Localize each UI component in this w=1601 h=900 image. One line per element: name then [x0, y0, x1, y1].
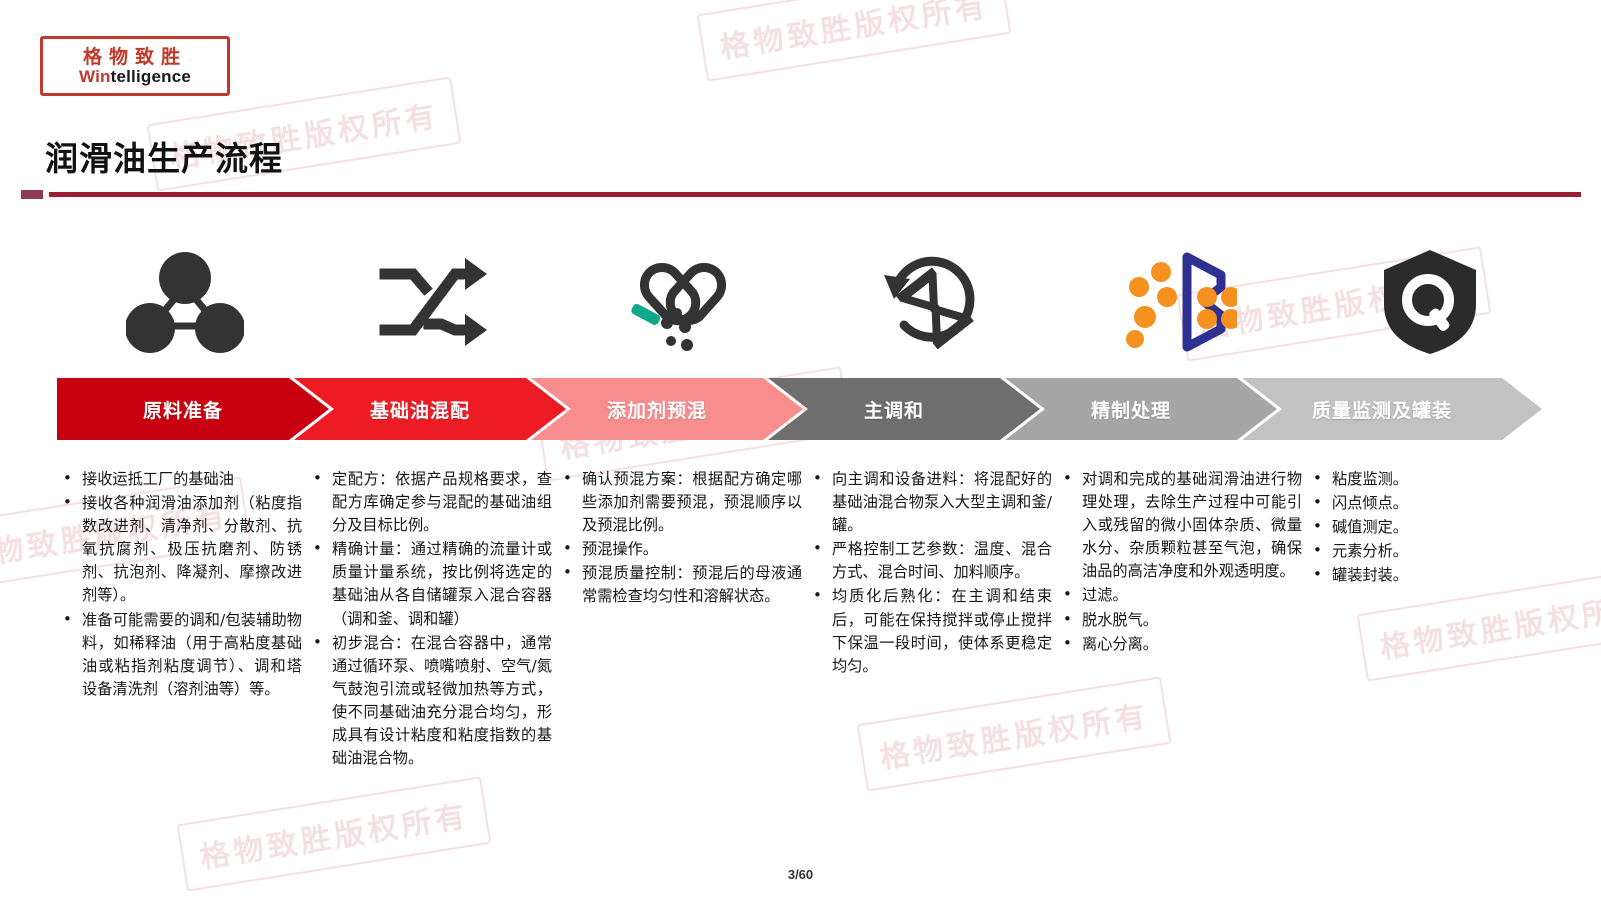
bullet-list-2: 确认预混方案：根据配方确定哪些添加剂需要预混，预混顺序以及预混比例。 预混操作。… — [560, 468, 802, 609]
chevron-label-3: 主调和 — [864, 396, 924, 423]
list-item: 精确计量：通过精确的流量计或质量计量系统，按比例将选定的基础油从各自储罐泵入混合… — [310, 538, 552, 630]
list-item: 预混操作。 — [560, 538, 802, 561]
list-item: 闪点倾点。 — [1310, 492, 1552, 515]
list-item: 确认预混方案：根据配方确定哪些添加剂需要预混，预混顺序以及预混比例。 — [560, 468, 802, 537]
icon-cell-main-blending — [808, 232, 1057, 372]
shield-quality-icon — [1378, 246, 1482, 358]
divider-square — [21, 190, 43, 199]
list-item: 粘度监测。 — [1310, 468, 1552, 491]
list-item: 初步混合：在混合容器中，通常通过循环泵、喷嘴喷射、空气/氮气鼓泡引流或轻微加热等… — [310, 632, 552, 771]
list-item: 定配方：依据产品规格要求，查配方库确定参与混配的基础油组分及目标比例。 — [310, 468, 552, 537]
watermark: 格物致胜版权所有 — [697, 0, 1012, 82]
chevron-label-2: 添加剂预混 — [607, 396, 707, 423]
filter-particles-icon — [1125, 247, 1237, 357]
divider-bar — [49, 192, 1581, 197]
list-item: 预混质量控制：预混后的母液通常需检查均匀性和溶解状态。 — [560, 562, 802, 608]
list-item: 离心分离。 — [1060, 633, 1302, 656]
list-item: 接收各种润滑油添加剂（粘度指数改进剂、清净剂、分散剂、抗氧抗腐剂、极压抗磨剂、防… — [60, 492, 302, 607]
title-divider — [21, 190, 1581, 199]
bullet-list-4: 对调和完成的基础润滑油进行物理处理，去除生产过程中可能引入或残留的微小固体杂质、… — [1060, 468, 1302, 656]
detail-column-main-blending: 向主调和设备进料：将混配好的基础油混合物泵入大型主调和釜/罐。 严格控制工艺参数… — [810, 468, 1060, 828]
chevron-refining-treatment[interactable]: 精制处理 — [1005, 378, 1277, 440]
list-item: 接收运抵工厂的基础油 — [60, 468, 302, 491]
chevron-label-1: 基础油混配 — [370, 396, 470, 423]
list-item: 碱值测定。 — [1310, 516, 1552, 539]
detail-column-refining-treatment: 对调和完成的基础润滑油进行物理处理，去除生产过程中可能引入或残留的微小固体杂质、… — [1060, 468, 1310, 828]
chevron-raw-material-preparation[interactable]: 原料准备 — [57, 378, 329, 440]
icon-cell-raw-material-preparation — [60, 232, 309, 372]
chevron-label-4: 精制处理 — [1091, 396, 1171, 423]
hourglass-refresh-icon — [876, 247, 988, 357]
stage-detail-columns: 接收运抵工厂的基础油 接收各种润滑油添加剂（粘度指数改进剂、清净剂、分散剂、抗氧… — [60, 468, 1560, 828]
list-item: 对调和完成的基础润滑油进行物理处理，去除生产过程中可能引入或残留的微小固体杂质、… — [1060, 468, 1302, 583]
list-item: 元素分析。 — [1310, 540, 1552, 563]
chevron-label-5: 质量监测及罐装 — [1312, 396, 1452, 423]
stage-icon-row — [60, 232, 1555, 372]
icon-cell-base-oil-blending — [309, 232, 558, 372]
logo-en-accent: Win — [79, 67, 111, 86]
bullet-list-3: 向主调和设备进料：将混配好的基础油混合物泵入大型主调和釜/罐。 严格控制工艺参数… — [810, 468, 1052, 678]
detail-column-raw-material-preparation: 接收运抵工厂的基础油 接收各种润滑油添加剂（粘度指数改进剂、清净剂、分散剂、抗氧… — [60, 468, 310, 828]
bullet-list-1: 定配方：依据产品规格要求，查配方库确定参与混配的基础油组分及目标比例。 精确计量… — [310, 468, 552, 770]
logo-chinese-text: 格物致胜 — [83, 48, 187, 67]
list-item: 均质化后熟化：在主调和结束后，可能在保持搅拌或停止搅拌下保温一段时间，使体系更稳… — [810, 585, 1052, 677]
list-item: 过滤。 — [1060, 584, 1302, 607]
detail-column-base-oil-blending: 定配方：依据产品规格要求，查配方库确定参与混配的基础油组分及目标比例。 精确计量… — [310, 468, 560, 828]
chevron-label-0: 原料准备 — [143, 396, 223, 423]
icon-cell-quality-monitoring-filling — [1306, 232, 1555, 372]
bullet-list-5: 粘度监测。 闪点倾点。 碱值测定。 元素分析。 罐装封装。 — [1310, 468, 1552, 587]
icon-cell-refining-treatment — [1057, 232, 1306, 372]
icon-cell-additive-premix — [558, 232, 807, 372]
slide-root: 格物致胜版权所有 格物致胜版权所有 格物致胜版权所有 格物致胜版权所有 格物致胜… — [0, 0, 1601, 900]
detail-column-additive-premix: 确认预混方案：根据配方确定哪些添加剂需要预混，预混顺序以及预混比例。 预混操作。… — [560, 468, 810, 828]
page-number: 3/60 — [0, 867, 1601, 882]
shuffle-arrows-icon — [379, 252, 489, 352]
detail-column-quality-monitoring-filling: 粘度监测。 闪点倾点。 碱值测定。 元素分析。 罐装封装。 — [1310, 468, 1560, 828]
logo-en-rest: telligence — [111, 67, 191, 86]
company-logo: 格物致胜 Wintelligence — [40, 36, 230, 96]
list-item: 严格控制工艺参数：温度、混合方式、混合时间、加料顺序。 — [810, 538, 1052, 584]
list-item: 准备可能需要的调和/包装辅助物料，如稀释油（用于高粘度基础油或粘指剂粘度调节）、… — [60, 609, 302, 701]
page-title: 润滑油生产流程 — [45, 132, 283, 180]
list-item: 罐装封装。 — [1310, 564, 1552, 587]
chevron-base-oil-blending[interactable]: 基础油混配 — [294, 378, 566, 440]
chevron-main-blending[interactable]: 主调和 — [768, 378, 1040, 440]
logo-english-text: Wintelligence — [79, 68, 191, 85]
chevron-additive-premix[interactable]: 添加剂预混 — [531, 378, 803, 440]
list-item: 脱水脱气。 — [1060, 609, 1302, 632]
capsule-granules-icon — [625, 247, 741, 357]
chevron-quality-monitoring-filling[interactable]: 质量监测及罐装 — [1242, 378, 1542, 440]
molecule-network-icon — [126, 246, 244, 358]
process-chevron-row: 原料准备 基础油混配 添加剂预混 主调和 精制处理 质量监测及罐装 — [57, 378, 1557, 440]
bullet-list-0: 接收运抵工厂的基础油 接收各种润滑油添加剂（粘度指数改进剂、清净剂、分散剂、抗氧… — [60, 468, 302, 701]
list-item: 向主调和设备进料：将混配好的基础油混合物泵入大型主调和釜/罐。 — [810, 468, 1052, 537]
